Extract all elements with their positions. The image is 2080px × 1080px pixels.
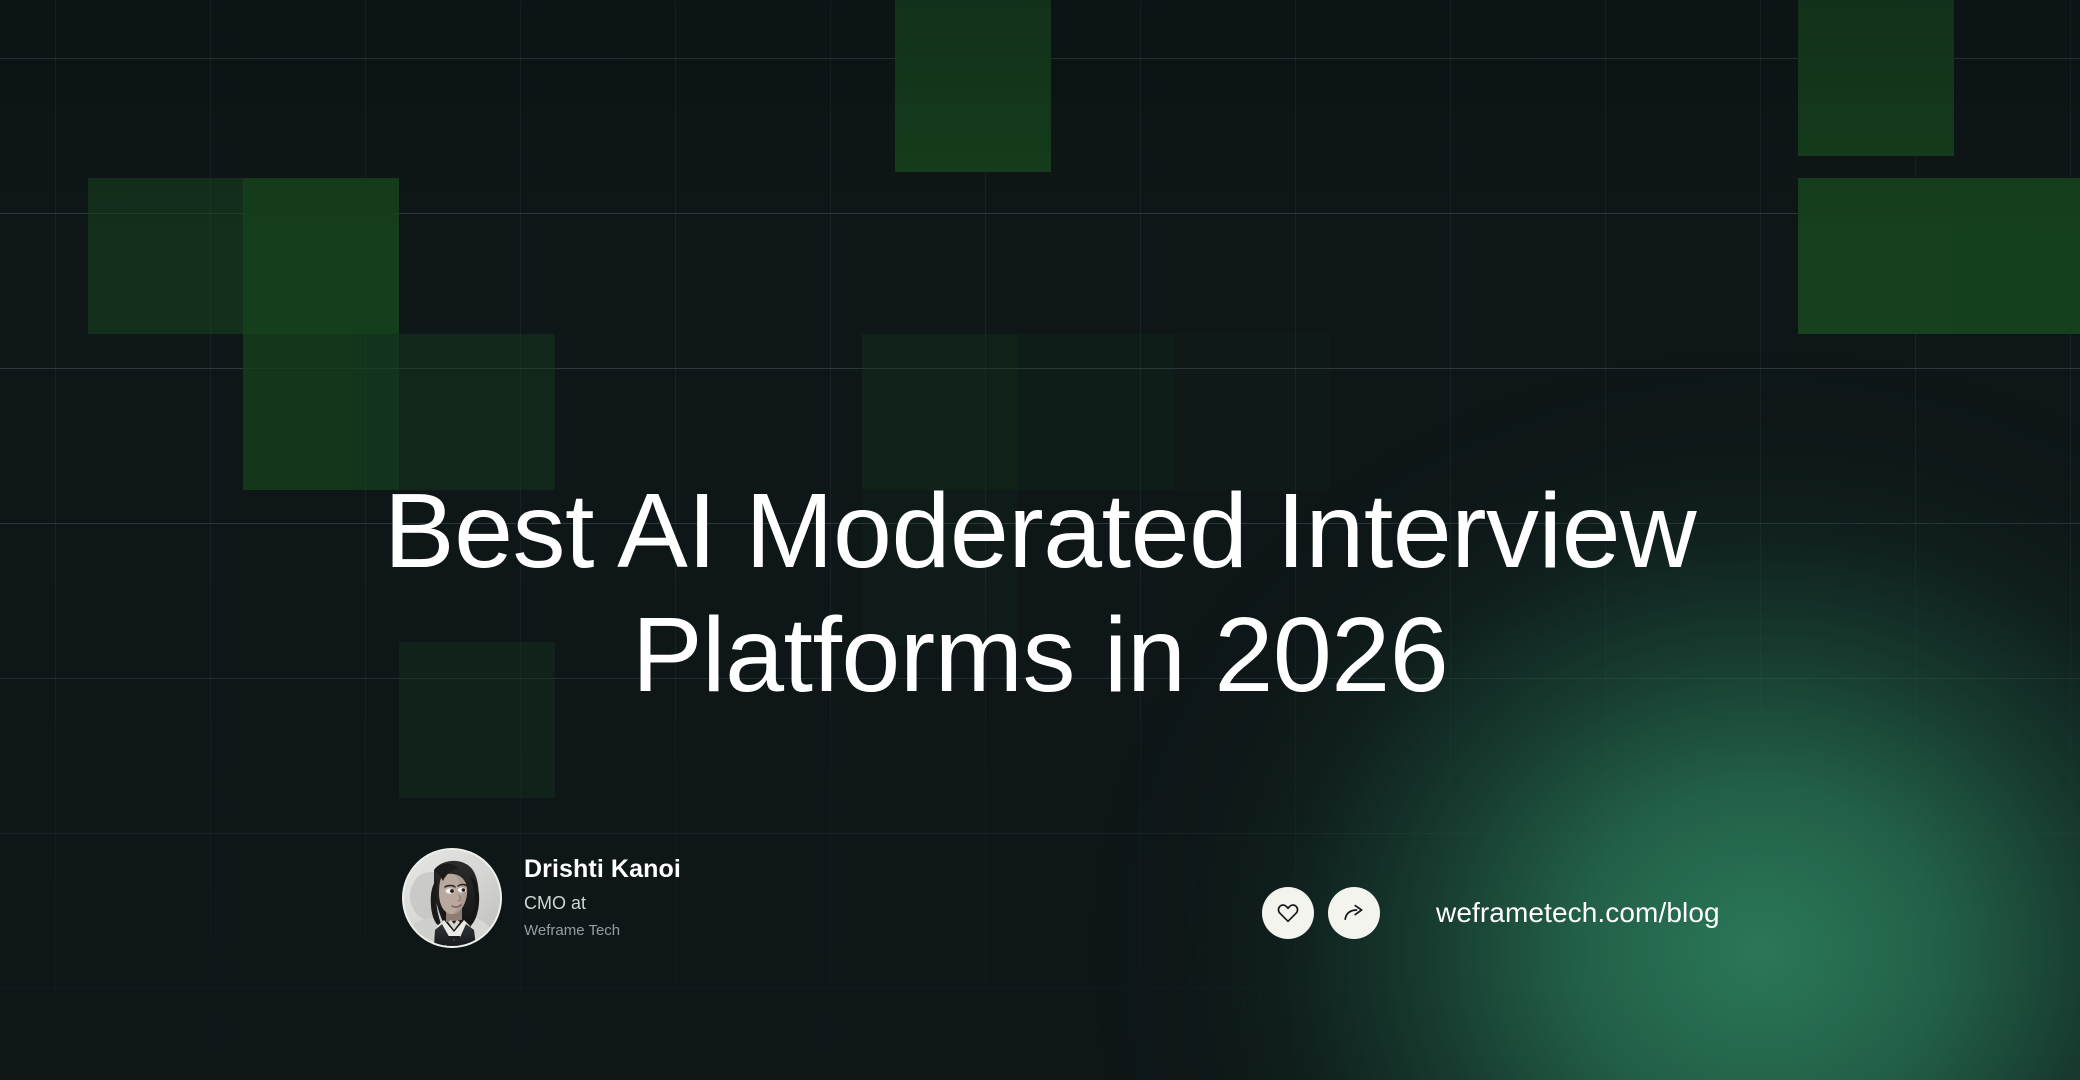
- blog-url-link[interactable]: weframetech.com/blog: [1436, 897, 1720, 929]
- blog-hero-banner: Best AI Moderated Interview Platforms in…: [0, 0, 2080, 1080]
- decor-block: [243, 178, 399, 334]
- author-block: Drishti Kanoi CMO at Weframe Tech: [402, 848, 681, 948]
- author-role: CMO at: [524, 890, 681, 916]
- author-name: Drishti Kanoi: [524, 854, 681, 885]
- page-title-line-1: Best AI Moderated Interview: [200, 469, 1880, 593]
- author-company: Weframe Tech: [524, 919, 681, 942]
- hero-footer: Drishti Kanoi CMO at Weframe Tech: [0, 830, 2080, 980]
- page-title-line-2: Platforms in 2026: [200, 593, 1880, 717]
- decor-block: [1953, 178, 2080, 334]
- decor-block: [243, 334, 353, 490]
- heart-icon: [1276, 901, 1300, 925]
- decor-block: [88, 178, 244, 334]
- like-button[interactable]: [1262, 887, 1314, 939]
- author-meta: Drishti Kanoi CMO at Weframe Tech: [524, 854, 681, 942]
- action-bar: weframetech.com/blog: [1262, 887, 1720, 939]
- avatar: [402, 848, 502, 948]
- page-title: Best AI Moderated Interview Platforms in…: [0, 469, 2080, 717]
- author-avatar-photo: [404, 850, 500, 946]
- decor-block: [1174, 334, 1330, 490]
- decor-block: [1798, 0, 1954, 156]
- decor-block: [895, 0, 1051, 172]
- share-button[interactable]: [1328, 887, 1380, 939]
- share-arrow-icon: [1342, 901, 1366, 925]
- decor-block: [399, 334, 555, 490]
